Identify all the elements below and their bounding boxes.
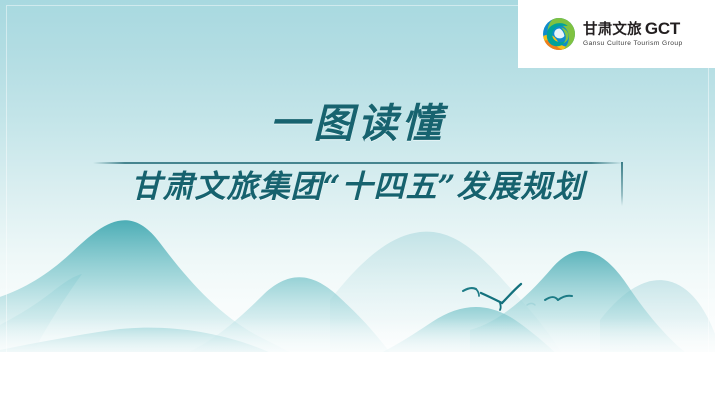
brand-name-cn: 甘肃文旅 bbox=[583, 23, 642, 38]
page-subtitle: 甘肃文旅集团“十四五”发展规划 bbox=[93, 164, 623, 210]
title-block: 一图读懂 甘肃文旅集团“十四五”发展规划 bbox=[0, 104, 715, 212]
poster-canvas: 一图读懂 甘肃文旅集团“十四五”发展规划 甘肃文旅 bbox=[0, 0, 715, 402]
brand-name-en: Gansu Culture Tourism Group bbox=[583, 41, 683, 48]
mist-band-lower bbox=[0, 352, 715, 402]
brand-logo-primary: 甘肃文旅 GCT bbox=[583, 20, 683, 38]
brand-logo-plate: 甘肃文旅 GCT Gansu Culture Tourism Group bbox=[518, 0, 715, 68]
gansu-culture-tourism-group-logo-mark bbox=[542, 17, 576, 51]
subtitle-row: 甘肃文旅集团“十四五”发展规划 bbox=[93, 160, 623, 212]
brand-logo-text: 甘肃文旅 GCT Gansu Culture Tourism Group bbox=[583, 20, 683, 47]
brand-abbr: GCT bbox=[645, 20, 680, 37]
page-title: 一图读懂 bbox=[0, 104, 715, 144]
